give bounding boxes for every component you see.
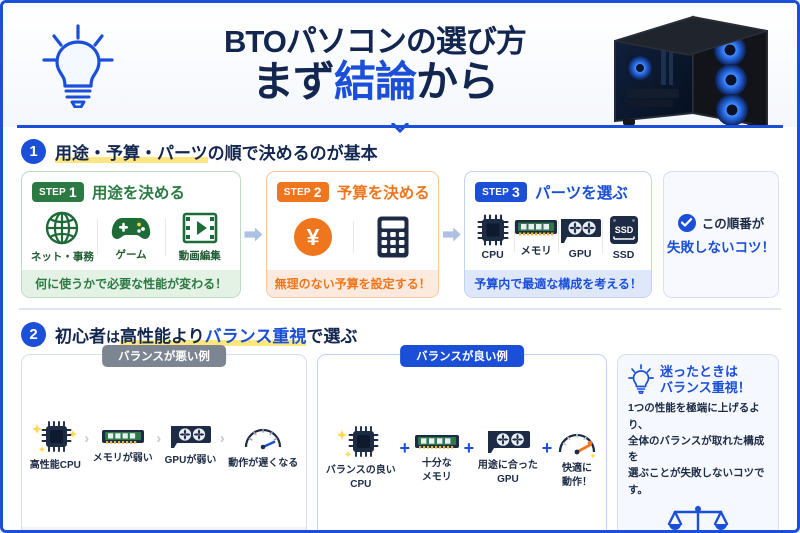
balance-note-header: 迷ったときは バランス重視！ [628, 364, 768, 398]
bad-separator-3: › [220, 430, 225, 461]
header-bulb-wrap [3, 22, 153, 108]
part-ssd[interactable]: SSD SSD [602, 214, 645, 261]
section-2-title-d: バランス重視 [205, 327, 307, 347]
film-play-icon [182, 211, 218, 245]
step-1-badge-number: 1 [69, 185, 77, 199]
good-item-cpu-label-1: バランスの良い [326, 465, 396, 478]
budget-yen[interactable]: ¥ [273, 216, 353, 258]
section-2-number: 2 [21, 322, 46, 347]
section-1: 1 用途・予算・パーツの順で決めるのが基本 STEP 1 用途を決める [3, 127, 797, 298]
balance-note-title-line2: バランス重視！ [660, 380, 751, 397]
check-circle-icon [678, 214, 696, 232]
step-2-footer: 無理のない予算を設定する！ [267, 270, 439, 297]
part-memory[interactable]: メモリ [514, 216, 558, 258]
arrow-right-icon [244, 228, 262, 242]
budget-calculator[interactable] [353, 215, 433, 259]
page-title-line2: まず結論から [252, 59, 498, 104]
balance-note-body: 1つの性能を極端に上げるより、 全体のバランスが取れた構成を 選ぶことが失敗しな… [628, 400, 768, 498]
good-item-speed[interactable]: 快適に 動作！ [556, 425, 598, 489]
section-2: 2 初心者は高性能よりバランス重視で選ぶ バランスが悪い例 [3, 310, 797, 533]
step-1-header: STEP 1 用途を決める [22, 172, 240, 208]
gpu-card-icon [485, 428, 531, 456]
good-item-cpu-label-2: CPU [350, 479, 371, 492]
section-1-title: 用途・予算・パーツの順で決めるのが基本 [55, 139, 378, 164]
step-3-icons: CPU [465, 208, 651, 270]
order-tip-card: この順番が 失敗しないコツ！ [663, 171, 779, 298]
usecase-game-label: ゲーム [115, 247, 146, 262]
bad-item-gpu[interactable]: GPUが弱い [165, 423, 217, 468]
cpu-chip-icon [477, 214, 509, 246]
section-1-heading: 1 用途・予算・パーツの順で決めるのが基本 [21, 139, 783, 164]
bad-balance-tab: バランスが悪い例 [102, 345, 226, 367]
lightbulb-icon [39, 22, 117, 108]
step-1-title: 用途を決める [92, 181, 185, 203]
gauge-fast-icon [556, 425, 598, 459]
step-2-header: STEP 2 予算を決める [267, 172, 439, 208]
page-title-line2-b: から [416, 58, 498, 105]
page-title-line2-a: まず [252, 58, 334, 105]
balance-note-scale [628, 501, 768, 533]
step-3-title: パーツを選ぶ [535, 181, 628, 203]
ssd-icon: SSD [608, 214, 640, 246]
section-2-title-b: は [106, 329, 120, 345]
good-item-memory-label-2: メモリ [422, 472, 452, 485]
usecase-net-office[interactable]: ネット・事務 [28, 210, 97, 264]
bad-item-cpu-label: 高性能CPU [30, 460, 81, 473]
good-item-gpu[interactable]: 用途に合った GPU [478, 428, 538, 486]
usecase-video-edit[interactable]: 動画編集 [165, 211, 234, 263]
bad-balance-card: バランスが悪い例 [21, 354, 307, 533]
part-ssd-label: SSD [613, 249, 635, 261]
good-item-speed-label-1: 快適に [562, 463, 592, 476]
section-2-title: 初心者は高性能よりバランス重視で選ぶ [55, 322, 357, 347]
balance-note-title-line1: 迷ったときは [660, 364, 751, 381]
page-title-line2-accent: 結論 [334, 58, 416, 105]
part-cpu[interactable]: CPU [471, 214, 514, 261]
section-2-compare-row: バランスが悪い例 [17, 354, 783, 533]
good-balance-card: バランスが良い例 [317, 354, 607, 533]
step-1-footer: 何に使うかで必要な性能が変わる！ [22, 270, 240, 297]
memory-stick-icon [414, 430, 460, 454]
step-arrow-2-3 [439, 171, 464, 298]
step-3-badge-number: 3 [512, 185, 520, 199]
section-2-heading: 2 初心者は高性能よりバランス重視で選ぶ [21, 322, 783, 347]
good-item-speed-label-2: 動作！ [562, 477, 592, 490]
good-item-gpu-label-2: GPU [497, 474, 519, 487]
step-card-3[interactable]: STEP 3 パーツを選ぶ [464, 171, 652, 298]
section-2-title-c: 高性能より [120, 327, 205, 347]
step-3-header: STEP 3 パーツを選ぶ [465, 172, 651, 208]
step-card-1[interactable]: STEP 1 用途を決める [21, 171, 241, 298]
svg-text:SSD: SSD [614, 225, 633, 235]
good-item-cpu[interactable]: バランスの良い CPU [326, 423, 396, 491]
bad-item-gpu-label: GPUが弱い [165, 455, 217, 468]
good-balance-tab: バランスが良い例 [400, 345, 524, 367]
lightbulb-icon [628, 364, 654, 394]
order-tip-line1: この順番が [702, 213, 765, 232]
bad-item-speed[interactable]: 動作が遅くなる [228, 420, 298, 471]
bad-balance-items: 高性能CPU › [22, 355, 306, 527]
section-2-title-e: で選ぶ [306, 327, 357, 346]
step-2-title: 予算を決める [337, 181, 430, 203]
pc-tower-image [597, 3, 797, 127]
memory-stick-icon [514, 216, 558, 240]
bad-balance-footer: どれか一つが弱いと、全体の性能が低下してしまう… [22, 527, 306, 533]
header: BTOパソコンの選び方 まず結論から [3, 3, 797, 127]
section-2-title-a: 初心者 [55, 327, 106, 346]
order-tip-line1-row: この順番が [678, 213, 765, 232]
bad-separator-2: › [156, 430, 161, 461]
step-2-badge: STEP 2 [277, 182, 329, 202]
balance-note-card: 迷ったときは バランス重視！ 1つの性能を極端に上げるより、 全体のバランスが取… [617, 354, 779, 533]
bad-item-memory-label: メモリが弱い [93, 453, 153, 466]
header-title-wrap: BTOパソコンの選び方 まず結論から [153, 26, 597, 104]
section-1-number: 1 [21, 139, 46, 164]
cpu-chip-sparkle-icon [32, 418, 78, 456]
part-cpu-label: CPU [482, 249, 504, 261]
gamepad-icon [111, 212, 151, 244]
bad-item-speed-label: 動作が遅くなる [228, 458, 298, 471]
gpu-card-icon [168, 423, 212, 451]
part-gpu-label: GPU [569, 248, 592, 260]
header-chevron-icon [391, 123, 409, 133]
yen-coin-icon: ¥ [292, 216, 334, 258]
usecase-net-office-label: ネット・事務 [31, 249, 94, 264]
balance-scale-icon [667, 503, 729, 533]
usecase-video-edit-label: 動画編集 [179, 248, 221, 263]
step-3-footer: 予算内で最適な構成を考える！ [465, 270, 651, 297]
step-1-badge-word: STEP [39, 187, 66, 198]
balance-note-title: 迷ったときは バランス重視！ [660, 364, 751, 398]
balance-note-body-line1: 1つの性能を極端に上げるより、 [628, 400, 768, 433]
good-item-memory[interactable]: 十分な メモリ [414, 430, 460, 484]
good-separator-2: + [464, 438, 475, 477]
good-separator-3: + [542, 438, 553, 477]
step-2-badge-word: STEP [284, 187, 311, 198]
step-card-2[interactable]: STEP 2 予算を決める ¥ [266, 171, 440, 298]
bad-item-cpu[interactable]: 高性能CPU [30, 418, 81, 473]
gauge-slow-icon [243, 420, 283, 454]
usecase-game[interactable]: ゲーム [97, 212, 166, 262]
bad-separator-1: › [84, 430, 89, 461]
step-arrow-1-2 [241, 171, 266, 298]
page-title-line1: BTOパソコンの選び方 [224, 26, 526, 59]
cpu-chip-sparkle-icon [337, 423, 385, 461]
globe-icon [44, 210, 80, 246]
good-item-gpu-label-1: 用途に合った [478, 460, 538, 473]
section-1-title-rest: の順で決めるのが基本 [208, 144, 378, 163]
gpu-card-icon [558, 215, 602, 245]
part-gpu[interactable]: GPU [558, 215, 602, 260]
calculator-icon [376, 215, 410, 259]
step-1-icons: ネット・事務 ゲ [22, 208, 240, 270]
step-1-badge: STEP 1 [32, 182, 84, 202]
order-tip-line2: 失敗しないコツ！ [667, 236, 775, 256]
balance-note-body-line2: 全体のバランスが取れた構成を [628, 433, 768, 466]
bad-item-memory[interactable]: メモリが弱い [93, 425, 153, 466]
good-balance-items: バランスの良い CPU + [318, 355, 606, 533]
step-3-badge: STEP 3 [475, 182, 527, 202]
good-item-memory-label-1: 十分な [422, 458, 452, 471]
svg-text:¥: ¥ [306, 224, 319, 250]
balance-note-body-line3: 選ぶことが失敗しないコツです。 [628, 465, 768, 498]
section-1-title-highlight: 用途・予算・パーツ [55, 144, 208, 164]
step-2-badge-number: 2 [314, 185, 322, 199]
arrow-right-icon [443, 228, 461, 242]
section-1-steps-row: STEP 1 用途を決める [17, 171, 783, 298]
step-3-badge-word: STEP [482, 187, 509, 198]
good-separator-1: + [400, 438, 411, 477]
part-memory-label: メモリ [520, 243, 552, 258]
step-2-icons: ¥ [267, 208, 439, 270]
memory-stick-icon [101, 425, 145, 449]
infographic-page: BTOパソコンの選び方 まず結論から [0, 0, 800, 533]
